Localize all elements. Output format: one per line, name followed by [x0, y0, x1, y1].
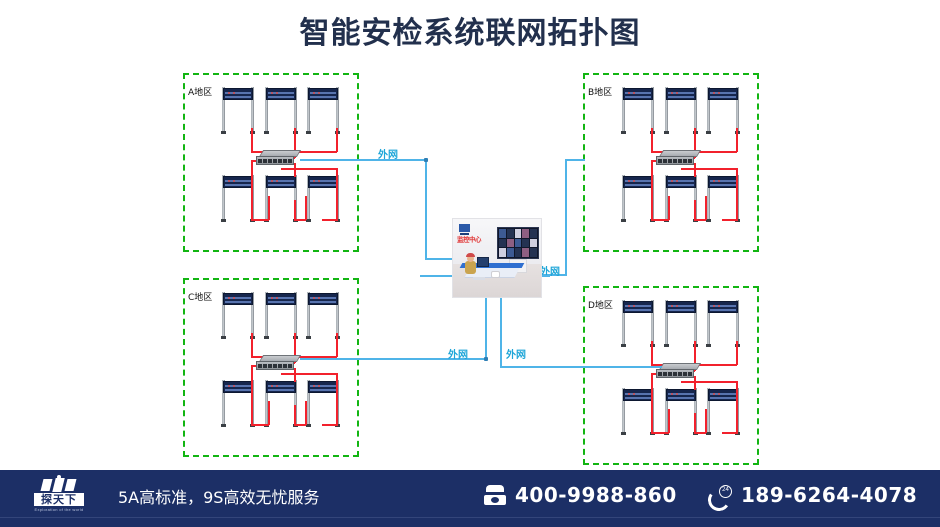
security-gate-icon: [622, 388, 654, 434]
illustration-operator-body: [465, 261, 476, 274]
network-switch-icon: [256, 355, 300, 371]
mobile-phone-24h-icon: 24: [708, 485, 732, 506]
footer-divider: [0, 517, 940, 518]
security-gate-icon: [265, 380, 297, 426]
page-title: 智能安检系统联网拓扑图: [0, 8, 940, 52]
illustration-desk-item: [473, 277, 485, 280]
wan-link-a: [300, 159, 426, 161]
network-switch-icon: [256, 150, 300, 166]
wan-link-d: [500, 366, 662, 368]
wan-label-d: 外网: [506, 346, 526, 361]
security-gate-icon: [265, 175, 297, 221]
zone-c-label: C地区: [188, 290, 212, 303]
security-gate-icon: [307, 175, 339, 221]
network-switch-icon: [656, 363, 700, 379]
security-gate-icon: [307, 292, 339, 338]
security-gate-icon: [622, 87, 654, 133]
badge-24h: 24: [719, 485, 732, 498]
security-gate-icon: [665, 87, 697, 133]
security-gate-icon: [665, 388, 697, 434]
zone-b-label: B地区: [588, 85, 612, 98]
footer-slogan: 5A高标准，9S高效无忧服务: [118, 484, 319, 508]
brand-logo-en: Exploration of the world: [28, 507, 90, 512]
security-gate-icon: [222, 175, 254, 221]
security-gate-icon: [265, 292, 297, 338]
brand-logo-cn: 探天下: [34, 493, 84, 506]
security-gate-icon: [707, 87, 739, 133]
brand-bird-icon: [41, 477, 77, 492]
topology-diagram: A地区: [0, 60, 940, 470]
security-gate-icon: [222, 87, 254, 133]
monitoring-center-illustration: 监控中心: [452, 218, 542, 298]
telephone-icon: [484, 485, 506, 505]
center-brand-logo-icon: [459, 224, 470, 232]
brand-logo: 探天下 Exploration of the world: [28, 477, 90, 517]
security-gate-icon: [265, 87, 297, 133]
video-wall-icon: [497, 227, 539, 259]
wan-link-b: [565, 159, 585, 161]
illustration-monitor: [477, 257, 489, 267]
security-gate-icon: [622, 300, 654, 346]
security-gate-icon: [307, 380, 339, 426]
wan-node-a: [424, 158, 428, 162]
security-gate-icon: [222, 292, 254, 338]
security-gate-icon: [307, 87, 339, 133]
security-gate-icon: [707, 175, 739, 221]
footer-bar: 探天下 Exploration of the world 5A高标准，9S高效无…: [0, 470, 940, 527]
wan-node-c: [484, 357, 488, 361]
wan-link-a-center: [425, 258, 455, 260]
gate-display-panel: [223, 88, 253, 100]
page-root: 智能安检系统联网拓扑图 A地区: [0, 0, 940, 527]
gate-foot-left: [221, 131, 226, 134]
security-gate-icon: [665, 175, 697, 221]
monitoring-center-caption: 监控中心: [457, 235, 481, 244]
wan-link-a-vert: [425, 159, 427, 260]
security-gate-icon: [622, 175, 654, 221]
wan-link-b-vert: [565, 159, 567, 275]
zone-a-label: A地区: [188, 85, 212, 98]
hotline-block[interactable]: 400-9988-860: [484, 482, 677, 508]
illustration-scanner: [491, 271, 500, 278]
illustration-operator-cap: [466, 253, 475, 257]
mobile-number[interactable]: 189-6264-4078: [741, 483, 917, 507]
security-gate-icon: [665, 300, 697, 346]
security-gate-icon: [222, 380, 254, 426]
hotline-number[interactable]: 400-9988-860: [515, 483, 677, 507]
zone-d-label: D地区: [588, 298, 613, 311]
security-gate-icon: [707, 388, 739, 434]
wan-label-a: 外网: [378, 146, 398, 161]
wan-label-c: 外网: [448, 346, 468, 361]
security-gate-icon: [707, 300, 739, 346]
network-switch-icon: [656, 150, 700, 166]
mobile-block[interactable]: 24 189-6264-4078: [708, 482, 917, 508]
